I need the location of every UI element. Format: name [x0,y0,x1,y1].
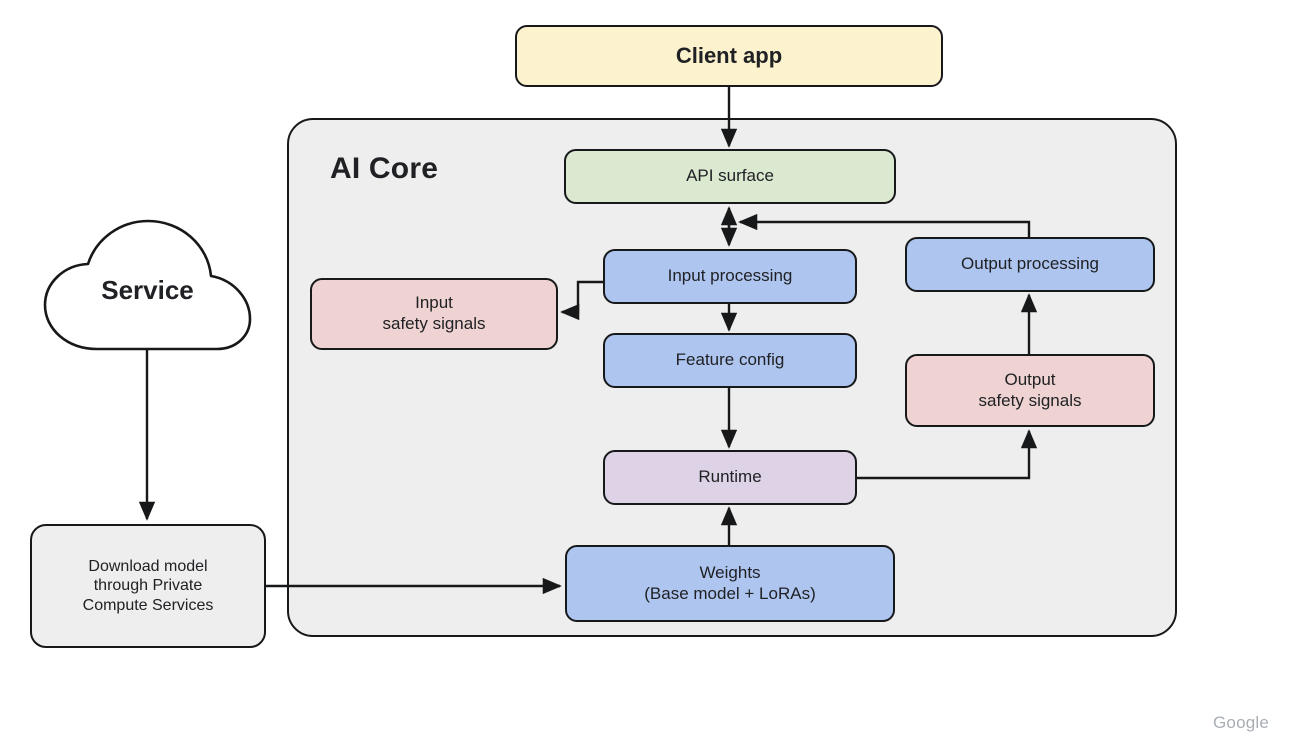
google-watermark: Google [1213,713,1269,733]
node-weights[interactable]: Weights (Base model + LoRAs) [565,545,895,622]
node-output-safety-signals[interactable]: Output safety signals [905,354,1155,427]
node-client-app-label: Client app [676,43,782,70]
node-output-processing[interactable]: Output processing [905,237,1155,292]
node-api-surface-label: API surface [686,166,774,187]
node-download-model[interactable]: Download model through Private Compute S… [30,524,266,648]
weights-line-2: (Base model + LoRAs) [644,584,816,603]
node-input-safety-signals[interactable]: Input safety signals [310,278,558,350]
node-client-app[interactable]: Client app [515,25,943,87]
input-safety-line-2: safety signals [383,314,486,333]
node-service-label: Service [40,275,255,306]
node-feature-config-label: Feature config [676,350,785,371]
download-line-2: through Private [94,577,203,594]
output-safety-line-1: Output [1004,370,1055,389]
node-output-safety-signals-label: Output safety signals [979,370,1082,411]
node-download-model-label: Download model through Private Compute S… [83,557,214,616]
node-runtime[interactable]: Runtime [603,450,857,505]
output-safety-line-2: safety signals [979,391,1082,410]
node-api-surface[interactable]: API surface [564,149,896,204]
input-safety-line-1: Input [415,293,453,312]
node-output-processing-label: Output processing [961,254,1099,275]
download-line-1: Download model [88,558,207,575]
node-input-safety-signals-label: Input safety signals [383,293,486,334]
node-weights-label: Weights (Base model + LoRAs) [644,563,816,604]
diagram-canvas: AI Core [0,0,1304,756]
node-runtime-label: Runtime [698,467,761,488]
ai-core-label: AI Core [330,152,438,186]
node-input-processing-label: Input processing [668,266,793,287]
node-feature-config[interactable]: Feature config [603,333,857,388]
node-input-processing[interactable]: Input processing [603,249,857,304]
weights-line-1: Weights [699,563,760,582]
download-line-3: Compute Services [83,597,214,614]
